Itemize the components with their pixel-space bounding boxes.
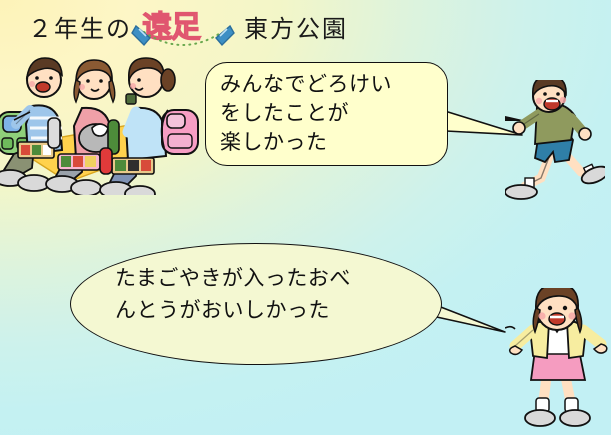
page-title: ２年生の 遠足 東方公園 bbox=[28, 4, 348, 48]
shoe-right-icon bbox=[210, 24, 236, 48]
speech-bubble-standing-girl-text: たまごやきが入ったおべ んとうがおいしかった bbox=[115, 262, 351, 326]
title-suffix: 東方公園 bbox=[244, 9, 348, 44]
motion-line-icon bbox=[505, 327, 515, 329]
illustration-running-boy bbox=[505, 80, 605, 205]
title-wordart-excursion: 遠足 bbox=[136, 4, 228, 48]
title-prefix: ２年生の bbox=[28, 9, 132, 44]
illustration-standing-girl bbox=[505, 288, 610, 433]
speech-bubble-standing-girl: たまごやきが入ったおべ んとうがおいしかった bbox=[70, 243, 442, 365]
slide-canvas: ２年生の 遠足 東方公園 bbox=[0, 0, 611, 435]
speech-bubble-running-boy: みんなでどろけい をしたことが 楽しかった bbox=[205, 62, 448, 166]
illustration-picnic-group bbox=[0, 50, 201, 195]
shoe-left-icon bbox=[130, 24, 156, 48]
backpack-pink-icon bbox=[162, 110, 198, 154]
speech-bubble-running-boy-text: みんなでどろけい をしたことが 楽しかった bbox=[220, 70, 392, 157]
